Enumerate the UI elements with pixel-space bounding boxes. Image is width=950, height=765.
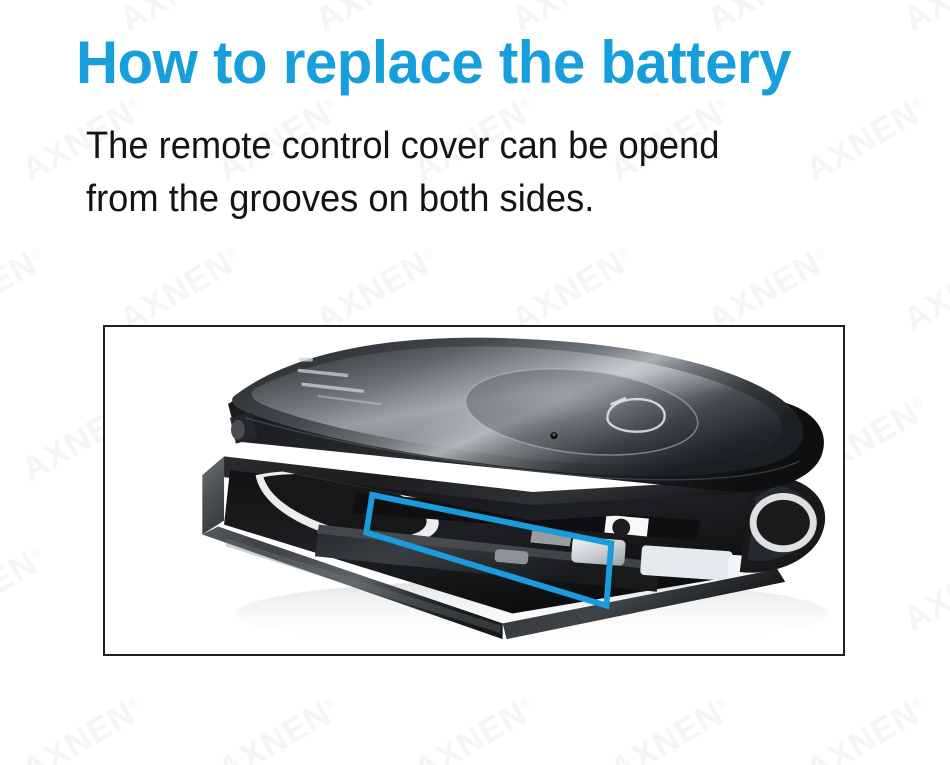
- watermark-text: AXNEN®: [15, 689, 151, 765]
- watermark-text: AXNEN®: [799, 689, 935, 765]
- watermark-text: AXNEN®: [603, 689, 739, 765]
- page-subtitle-line-1: The remote control cover can be opend: [86, 120, 850, 173]
- remote-control-illustration: [105, 327, 843, 654]
- watermark-text: AXNEN®: [897, 239, 950, 340]
- watermark-text: AXNEN®: [897, 0, 950, 40]
- watermark-text: AXNEN®: [0, 0, 53, 40]
- page-root: AXNEN®AXNEN®AXNEN®AXNEN®AXNEN®AXNEN®AXNE…: [0, 0, 950, 765]
- page-subtitle-line-2: from the grooves on both sides.: [86, 173, 850, 226]
- illustration-frame: [103, 325, 845, 656]
- watermark-text: AXNEN®: [211, 689, 347, 765]
- page-title: How to replace the battery: [76, 30, 791, 96]
- watermark-text: AXNEN®: [0, 239, 53, 340]
- watermark-text: AXNEN®: [897, 539, 950, 640]
- watermark-text: AXNEN®: [0, 539, 53, 640]
- page-subtitle: The remote control cover can be opend fr…: [86, 120, 850, 226]
- watermark-text: AXNEN®: [407, 689, 543, 765]
